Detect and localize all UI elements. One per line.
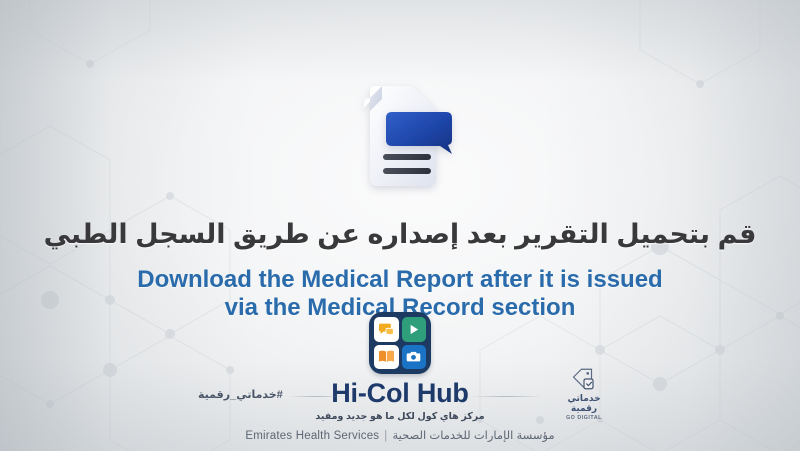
brand-subtitle: مركز هاي كول لكل ما هو جديد ومفيد [315,411,484,422]
go-digital-label-english: GO DIGITAL [566,415,602,421]
hashtag-label: #خدماتي_رقمية [198,388,283,401]
footer-organization: Emirates Health Services|مؤسسة الإمارات … [0,428,800,442]
play-icon [402,317,427,342]
divider-right [470,396,542,397]
go-digital-badge: خدماتي رقمية GO DIGITAL [549,366,619,421]
footer-text-english: Emirates Health Services [245,430,379,442]
camera-icon [402,345,427,370]
brand-block: Hi-Col Hub مركز هاي كول لكل ما هو جديد و… [0,312,800,422]
chat-icon [374,317,399,342]
go-digital-label-arabic: خدماتي رقمية [567,393,600,414]
divider-left [288,396,344,397]
presentation-slide: قم بتحميل التقرير بعد إصداره عن طريق الس… [0,0,800,451]
footer-separator: | [384,430,387,442]
go-digital-label-ar-line1: خدماتي [567,393,600,403]
brand-title: Hi-Col Hub [331,378,468,409]
headline-arabic: قم بتحميل التقرير بعد إصداره عن طريق الس… [44,218,757,252]
headline-english-line1: Download the Medical Report after it is … [137,266,662,294]
hi-col-hub-logo [369,312,431,374]
footer-text-arabic: مؤسسة الإمارات للخدمات الصحية [392,430,554,442]
book-icon [374,345,399,370]
digital-tag-icon [569,366,599,392]
go-digital-label-ar-line2: رقمية [567,403,600,413]
document-chat-icon [340,78,460,196]
